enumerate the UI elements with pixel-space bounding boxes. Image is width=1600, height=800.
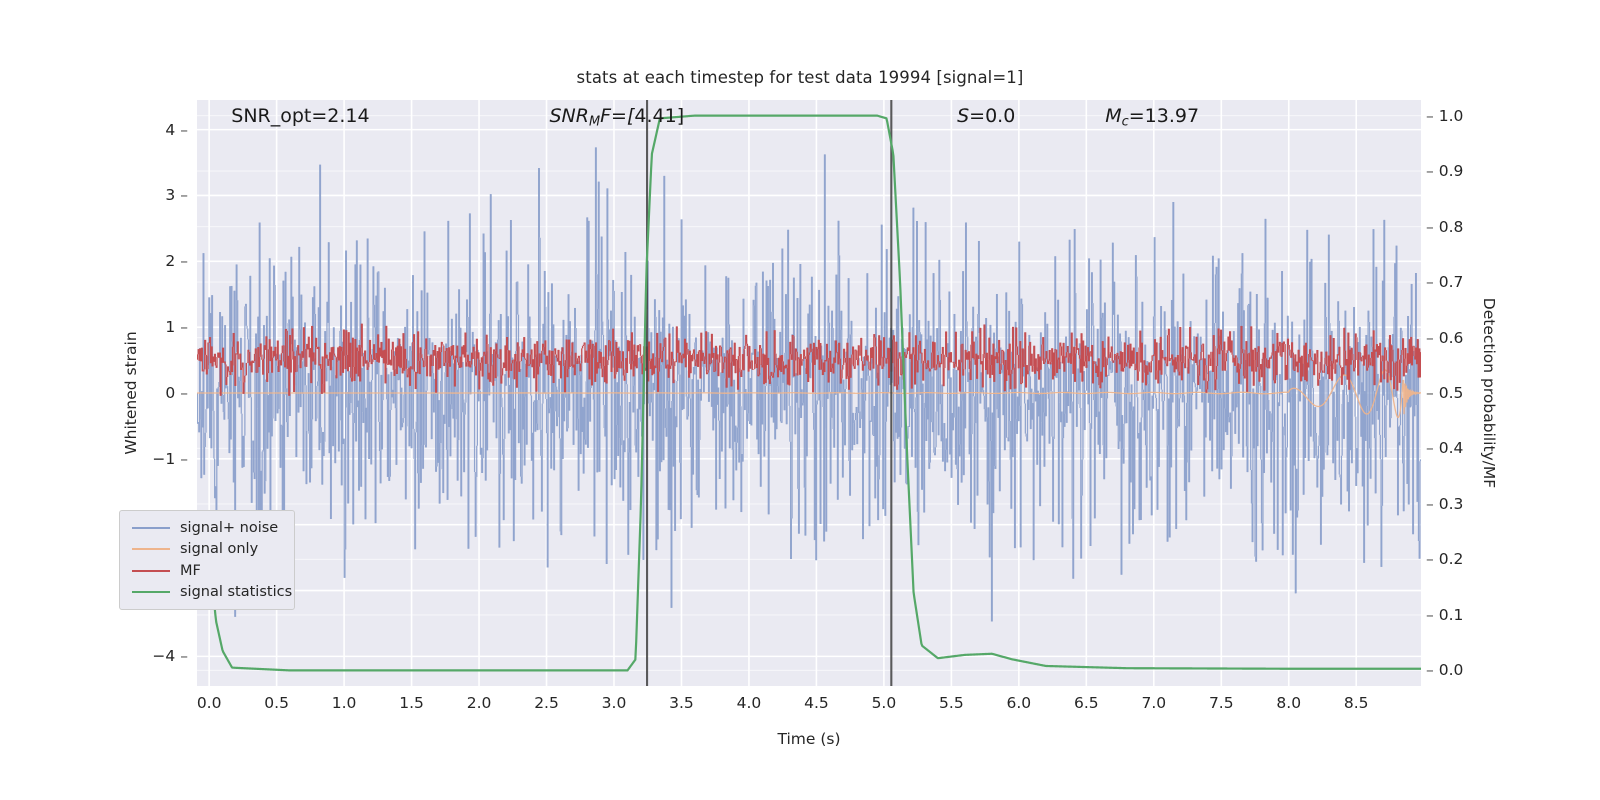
y-axis-label-right: Detection probability/MF xyxy=(1480,298,1498,488)
x-tick-11: 5.5 xyxy=(939,694,964,712)
legend-item-0[interactable]: signal+ noise xyxy=(126,517,290,539)
y-tick-left-5: −1– xyxy=(152,450,188,468)
figure-canvas: stats at each timestep for test data 199… xyxy=(0,0,1600,800)
annotation-snr-mf: SNRMF=[4.41] xyxy=(550,105,685,130)
y-tick-right-3: –0.7 xyxy=(1426,273,1463,291)
x-tick-6: 3.0 xyxy=(602,694,627,712)
legend-label: MF xyxy=(180,563,201,579)
legend-item-3[interactable]: signal statistics xyxy=(126,582,290,604)
x-tick-10: 5.0 xyxy=(872,694,897,712)
annotation-chirp-mass: Mc=13.97 xyxy=(1105,105,1199,130)
x-tick-16: 8.0 xyxy=(1276,694,1301,712)
x-tick-3: 1.5 xyxy=(399,694,424,712)
x-tick-0: 0.0 xyxy=(197,694,222,712)
legend-label: signal statistics xyxy=(180,584,292,600)
legend-label: signal only xyxy=(180,541,258,557)
y-tick-left-0: 4– xyxy=(165,121,188,139)
y-tick-right-6: –0.4 xyxy=(1426,439,1463,457)
x-tick-9: 4.5 xyxy=(804,694,829,712)
x-tick-12: 6.0 xyxy=(1007,694,1032,712)
legend-swatch-icon xyxy=(132,548,170,550)
annotation-layer: SNR_opt=2.14SNRMF=[4.41]S=0.0Mc=13.97 xyxy=(197,100,1421,686)
x-tick-17: 8.5 xyxy=(1344,694,1369,712)
x-tick-14: 7.0 xyxy=(1141,694,1166,712)
legend-item-2[interactable]: MF xyxy=(126,560,290,582)
legend-item-1[interactable]: signal only xyxy=(126,539,290,561)
x-tick-7: 3.5 xyxy=(669,694,694,712)
y-tick-right-5: –0.5 xyxy=(1426,384,1463,402)
y-tick-right-4: –0.6 xyxy=(1426,329,1463,347)
x-tick-15: 7.5 xyxy=(1209,694,1234,712)
x-tick-5: 2.5 xyxy=(534,694,559,712)
x-tick-4: 2.0 xyxy=(467,694,492,712)
y-tick-right-2: –0.8 xyxy=(1426,218,1463,236)
y-tick-left-3: 1– xyxy=(165,318,188,336)
legend-label: signal+ noise xyxy=(180,520,278,536)
y-tick-right-1: –0.9 xyxy=(1426,162,1463,180)
legend-swatch-icon xyxy=(132,527,170,529)
y-tick-right-7: –0.3 xyxy=(1426,495,1463,513)
annotation-snr-opt: SNR_opt=2.14 xyxy=(231,105,369,127)
chart-title: stats at each timestep for test data 199… xyxy=(0,68,1600,87)
x-tick-2: 1.0 xyxy=(332,694,357,712)
x-tick-1: 0.5 xyxy=(264,694,289,712)
legend-swatch-icon xyxy=(132,591,170,593)
x-axis-label: Time (s) xyxy=(777,730,840,748)
x-tick-13: 6.5 xyxy=(1074,694,1099,712)
plot-area[interactable]: SNR_opt=2.14SNRMF=[4.41]S=0.0Mc=13.97 xyxy=(197,100,1421,686)
y-tick-right-9: –0.1 xyxy=(1426,606,1463,624)
x-tick-8: 4.0 xyxy=(737,694,762,712)
y-tick-left-8: −4– xyxy=(152,647,188,665)
y-tick-right-8: –0.2 xyxy=(1426,550,1463,568)
y-tick-right-0: –1.0 xyxy=(1426,107,1463,125)
y-tick-left-4: 0– xyxy=(165,384,188,402)
legend-swatch-icon xyxy=(132,570,170,572)
y-tick-left-1: 3– xyxy=(165,186,188,204)
y-axis-label-left: Whitened strain xyxy=(122,331,140,454)
y-tick-left-2: 2– xyxy=(165,252,188,270)
annotation-s-stat: S=0.0 xyxy=(957,105,1015,127)
y-tick-right-10: –0.0 xyxy=(1426,661,1463,679)
legend[interactable]: signal+ noisesignal onlyMFsignal statist… xyxy=(119,510,295,610)
